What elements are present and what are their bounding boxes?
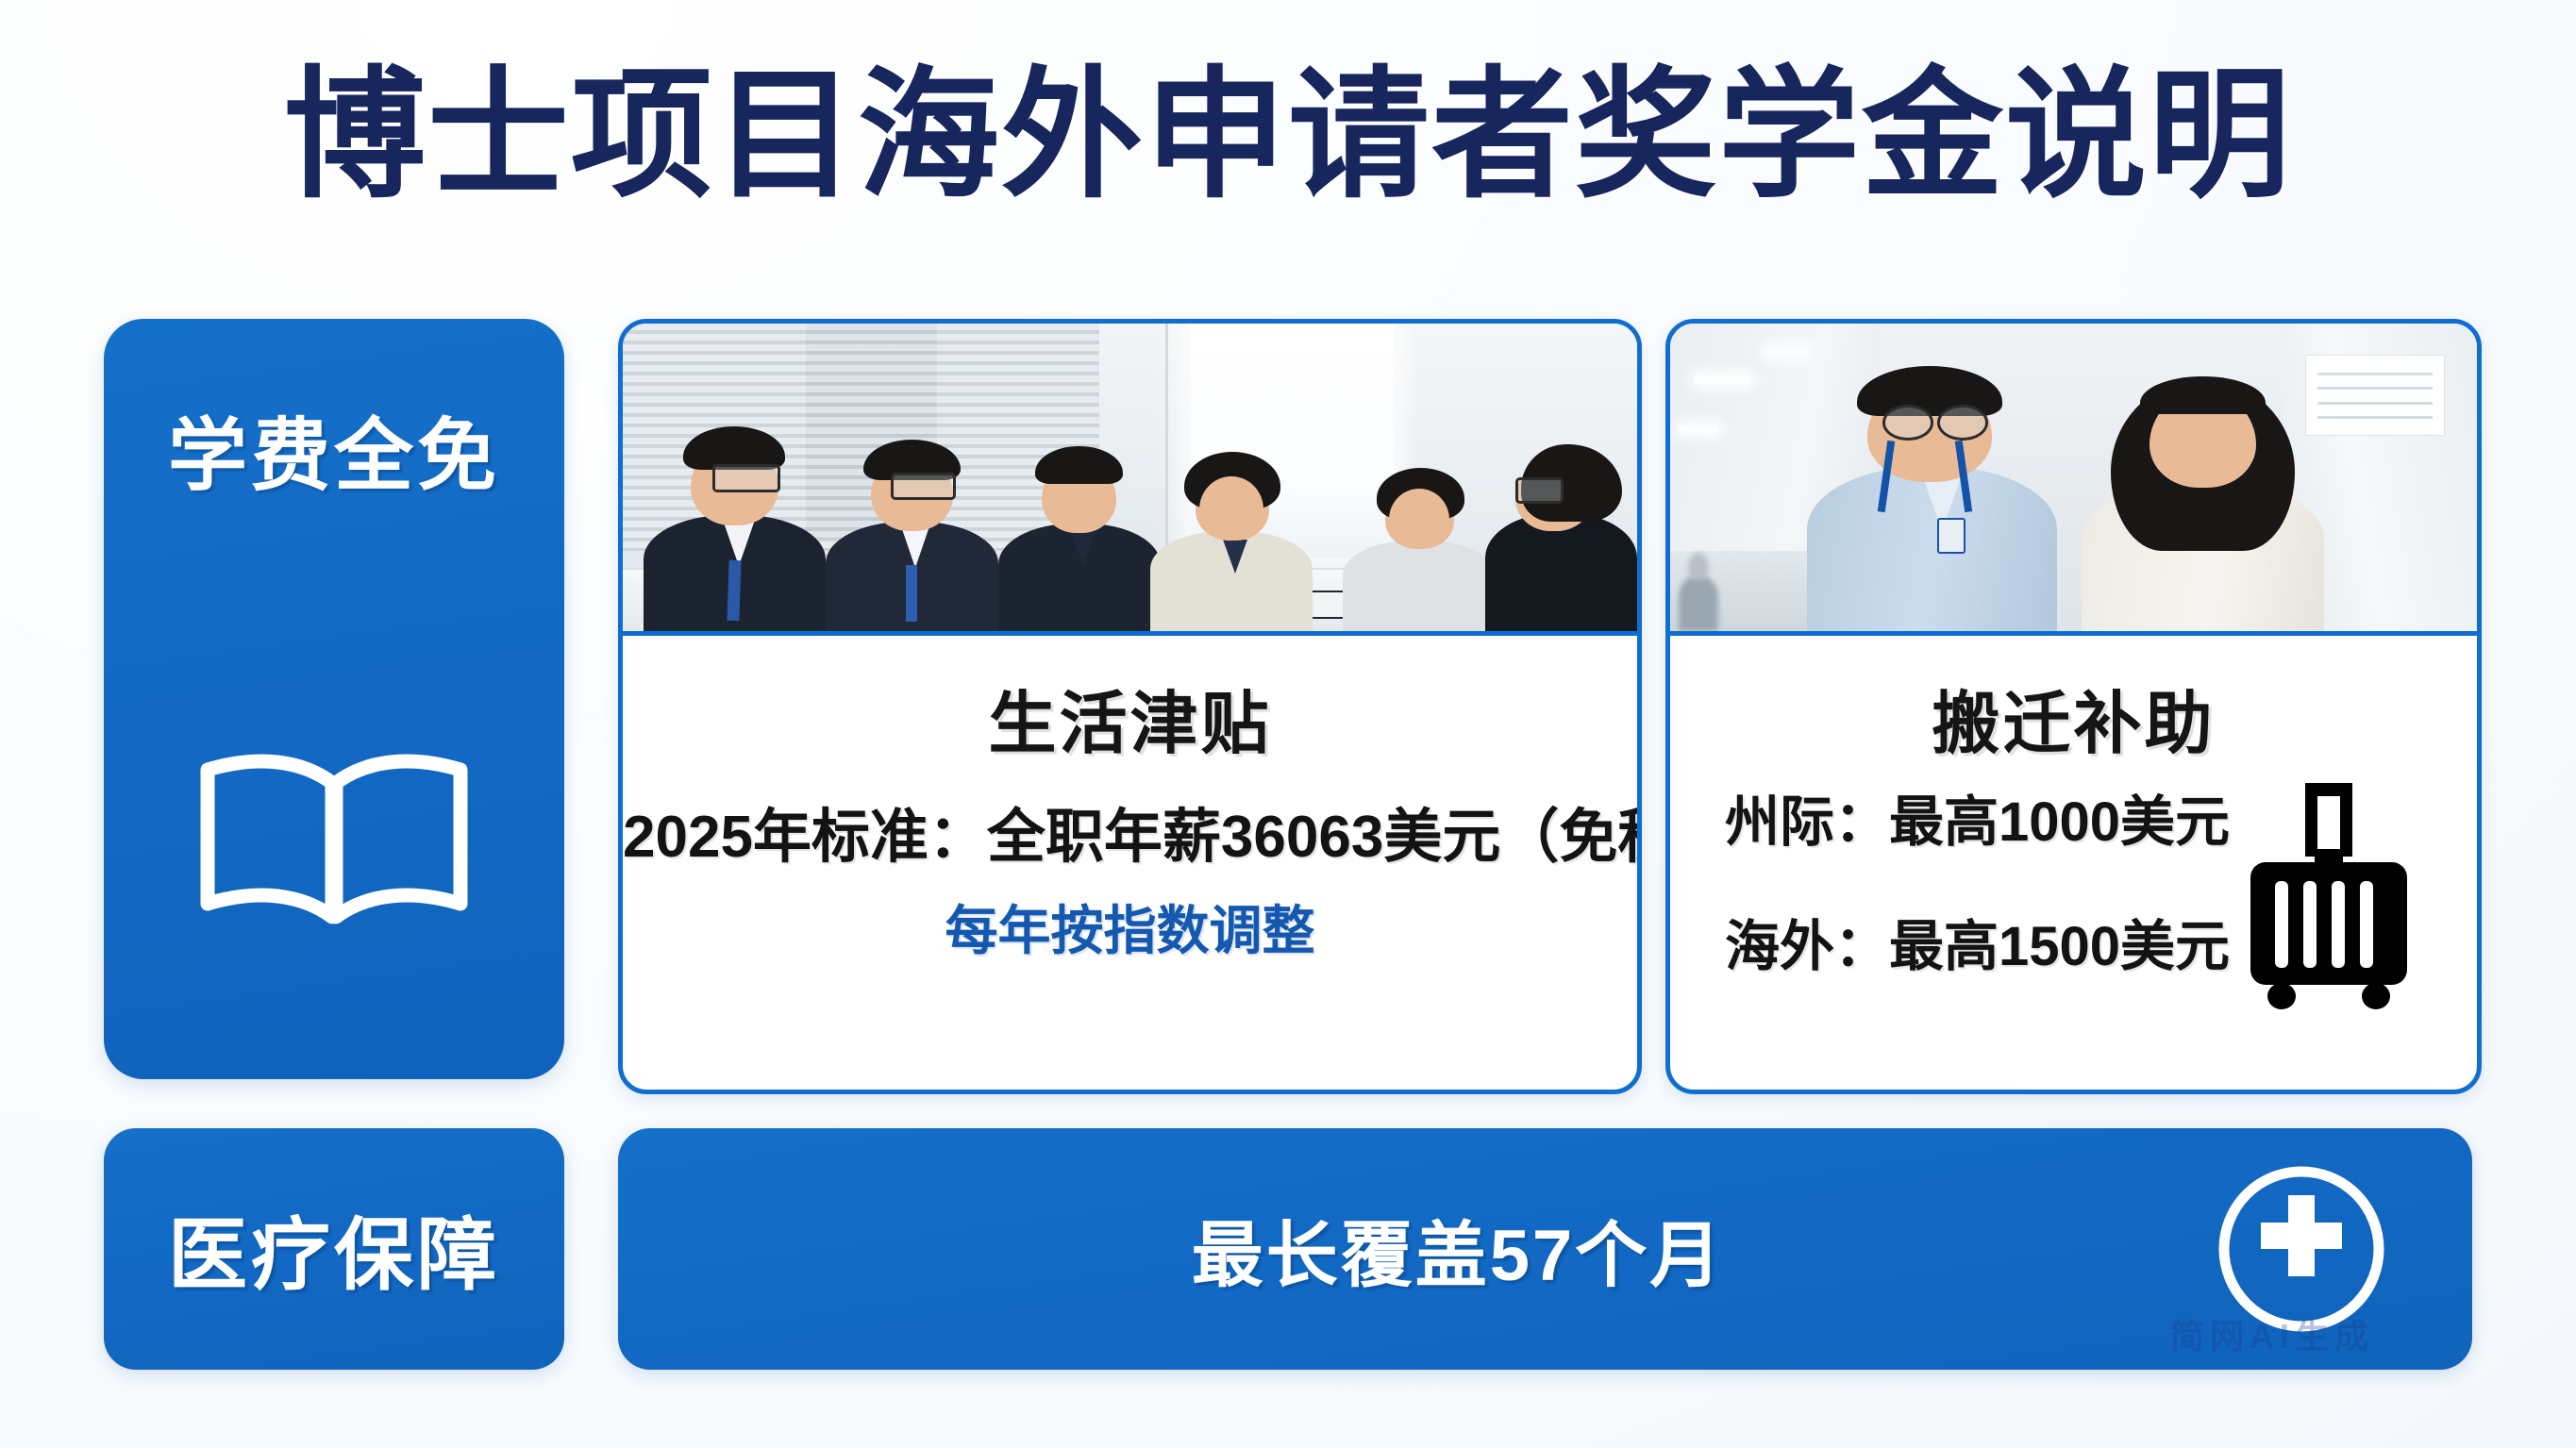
medical-coverage-label: 医疗保障 (104, 1192, 564, 1307)
medical-coverage-panel[interactable]: 医疗保障 (104, 1128, 564, 1370)
stipend-index-note: 每年按指数调整 (623, 889, 1637, 965)
relocation-card-body: 搬迁补助 州际：最高1000美元 海外：最高1500美元 (1670, 636, 2477, 1090)
meeting-room-photo (623, 324, 1637, 636)
relocation-amount-list: 州际：最高1000美元 海外：最高1500美元 (1725, 777, 2234, 1026)
suitcase-icon (2239, 775, 2418, 1011)
coverage-duration-text: 最长覆盖57个月 (618, 1197, 2298, 1301)
tuition-waiver-panel[interactable]: 学费全免 (104, 319, 564, 1079)
medical-cross-circle-icon (2216, 1163, 2387, 1335)
relocation-allowance-card[interactable]: 搬迁补助 州际：最高1000美元 海外：最高1500美元 (1665, 319, 2482, 1094)
relocation-interstate-line: 州际：最高1000美元 (1725, 777, 2234, 857)
living-stipend-card[interactable]: 生活津贴 2025年标准：全职年薪36063美元（免税） 每年按指数调整 (618, 319, 1642, 1094)
stipend-standard-line: 2025年标准：全职年薪36063美元（免税） (623, 789, 1637, 874)
coverage-duration-bar[interactable]: 最长覆盖57个月 简网AI生成 (618, 1128, 2472, 1370)
infographic-canvas: 博士项目海外申请者奖学金说明 学费全免 (0, 0, 2576, 1448)
stipend-card-title: 生活津贴 (623, 668, 1637, 767)
open-book-icon (192, 732, 476, 949)
corridor-staff-photo (1670, 324, 2477, 636)
relocation-card-title: 搬迁补助 (1670, 668, 2477, 767)
page-title: 博士项目海外申请者奖学金说明 (0, 52, 2576, 219)
stipend-card-body: 生活津贴 2025年标准：全职年薪36063美元（免税） 每年按指数调整 (623, 636, 1637, 1090)
tuition-waiver-label: 学费全免 (104, 392, 564, 507)
relocation-overseas-line: 海外：最高1500美元 (1725, 902, 2234, 981)
